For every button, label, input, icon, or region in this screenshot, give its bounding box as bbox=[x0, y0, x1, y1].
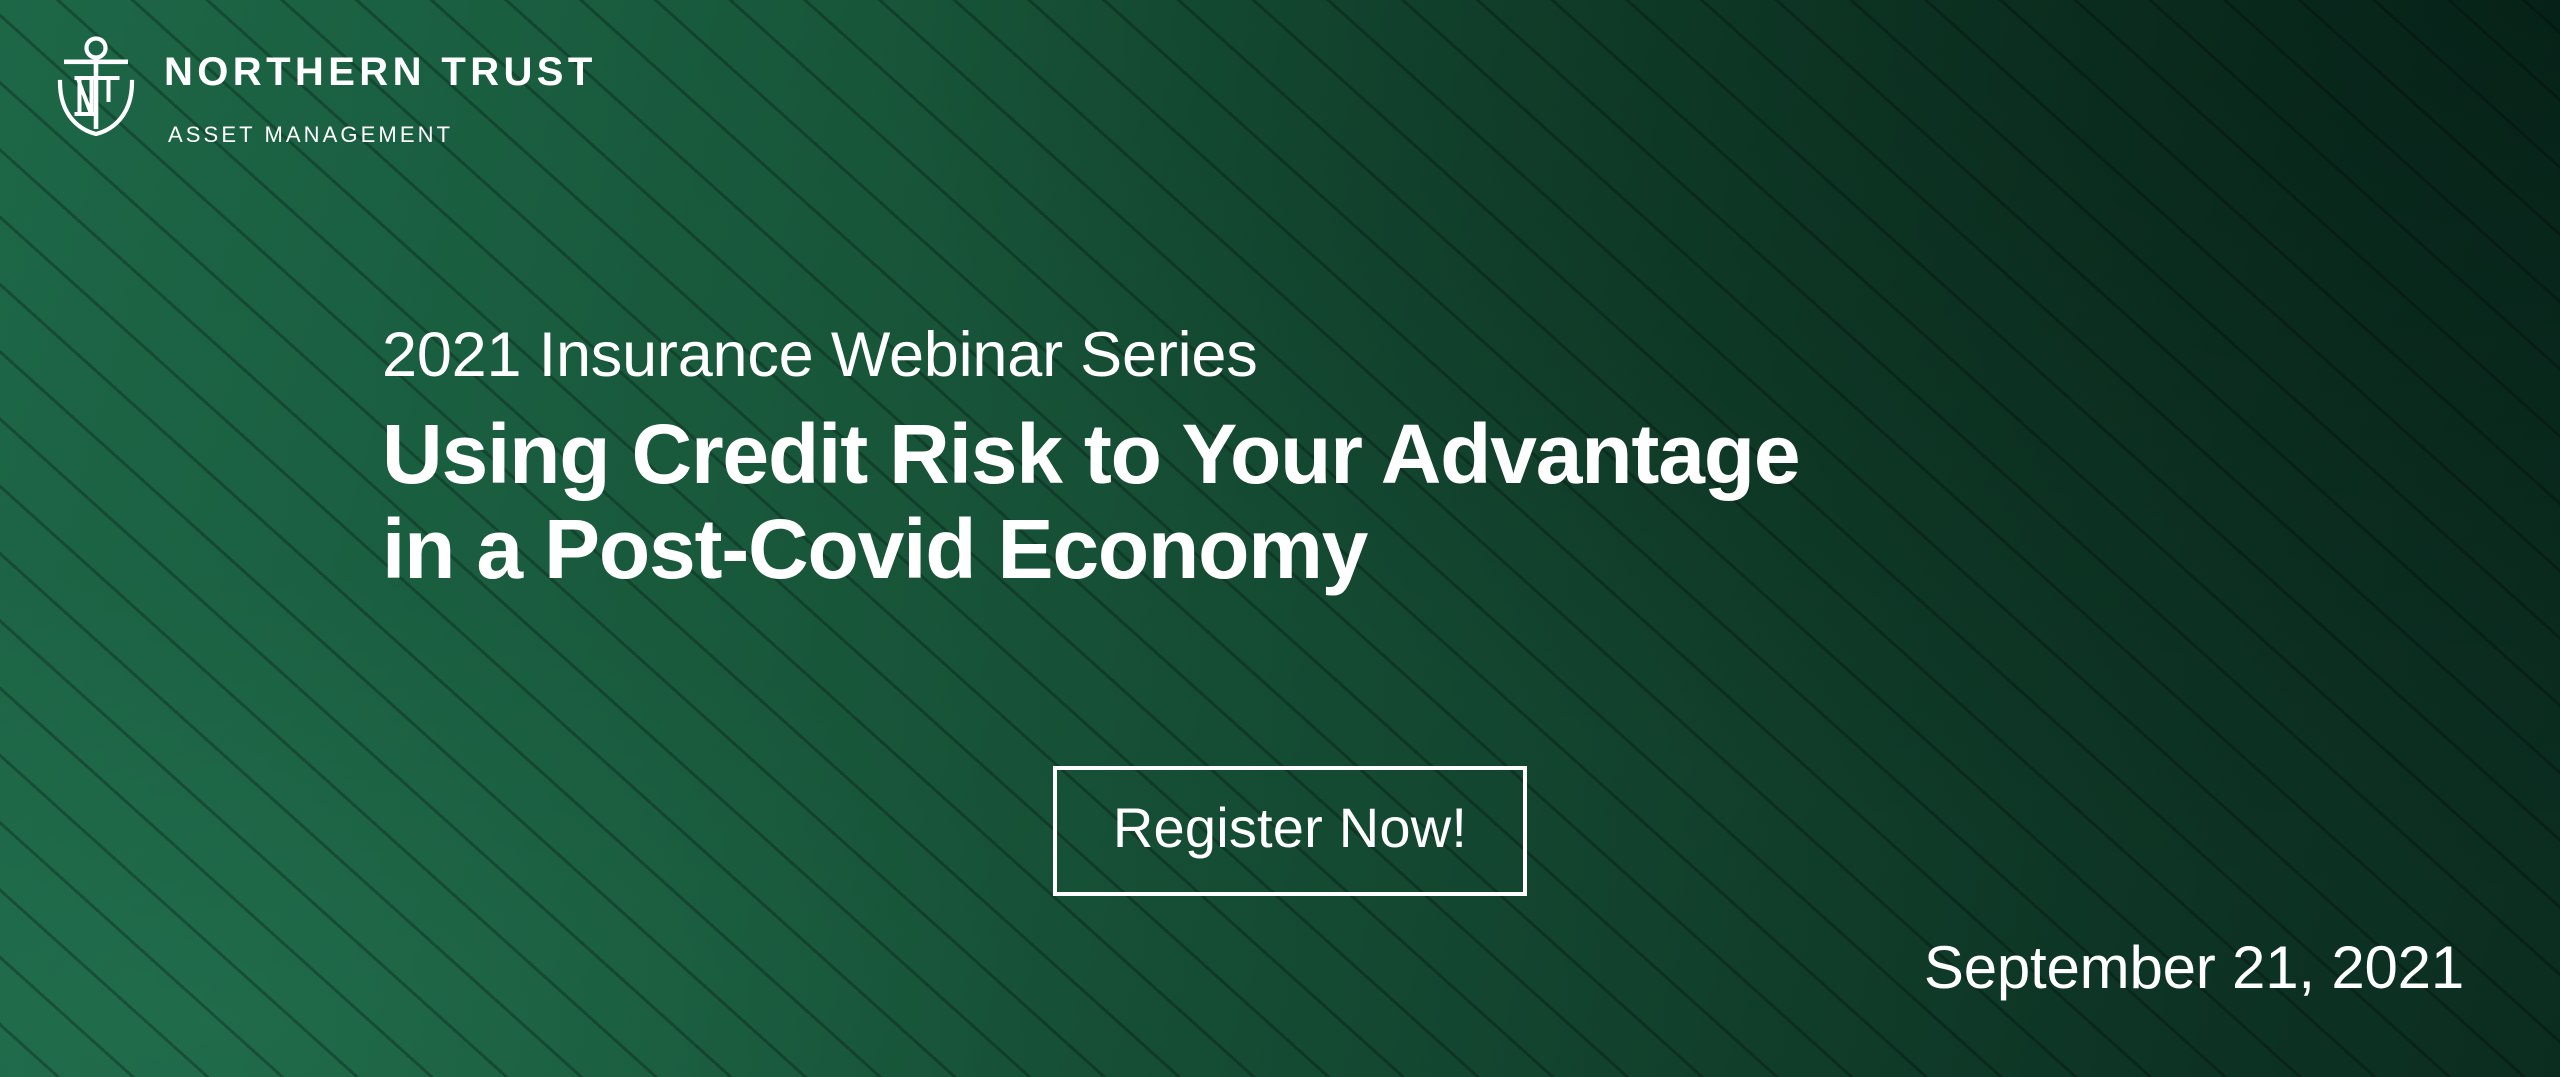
cta-container: Register Now! bbox=[1024, 766, 1556, 896]
event-date: September 21, 2021 bbox=[1924, 938, 2464, 998]
brand-wordmark-group: NORTHERN TRUST ASSET MANAGEMENT bbox=[164, 30, 597, 146]
hero-headline: Using Credit Risk to Your Advantage in a… bbox=[382, 407, 1799, 597]
brand-name: NORTHERN TRUST bbox=[164, 52, 597, 92]
hero-text-block: 2021 Insurance Webinar Series Using Cred… bbox=[382, 322, 1799, 597]
hero-headline-line-2: in a Post-Covid Economy bbox=[382, 502, 1799, 597]
northern-trust-anchor-nt-monogram-icon bbox=[50, 34, 142, 136]
register-now-button[interactable]: Register Now! bbox=[1053, 766, 1527, 896]
hero-headline-line-1: Using Credit Risk to Your Advantage bbox=[382, 407, 1799, 502]
brand-division: ASSET MANAGEMENT bbox=[168, 124, 597, 146]
hero-eyebrow: 2021 Insurance Webinar Series bbox=[382, 322, 1799, 389]
webinar-promo-banner: NORTHERN TRUST ASSET MANAGEMENT 2021 Ins… bbox=[0, 0, 2560, 1077]
brand-logo-lockup[interactable]: NORTHERN TRUST ASSET MANAGEMENT bbox=[50, 30, 597, 146]
banner-content: NORTHERN TRUST ASSET MANAGEMENT 2021 Ins… bbox=[0, 0, 2560, 1077]
